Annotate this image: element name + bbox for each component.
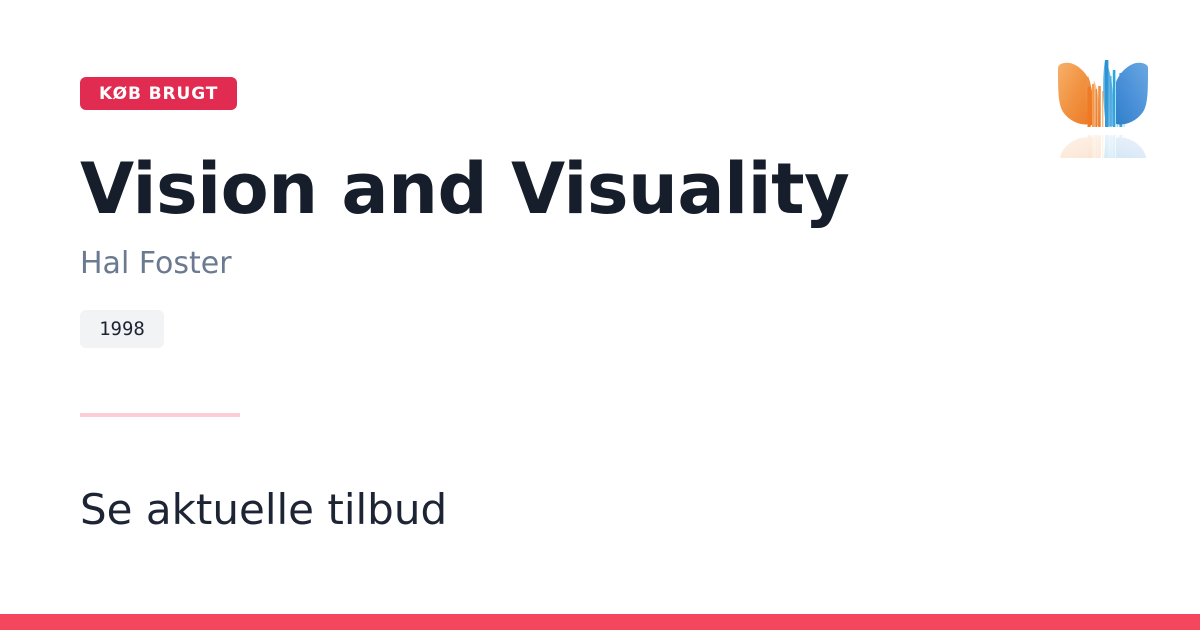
butterfly-barcode-icon — [1048, 46, 1158, 158]
cta-label: Se aktuelle tilbud — [80, 486, 447, 534]
logo-reflection — [1058, 135, 1148, 158]
bottom-accent-bar — [0, 614, 1200, 630]
author-name: Hal Foster — [80, 246, 232, 282]
year-chip: 1998 — [80, 310, 164, 348]
status-badge: KØB BRUGT — [80, 77, 237, 110]
divider — [80, 413, 240, 417]
page-title: Vision and Visuality — [80, 154, 849, 224]
og-card: KØB BRUGT Vision and Visuality Hal Foste… — [0, 0, 1200, 630]
brand-logo — [1048, 46, 1158, 158]
